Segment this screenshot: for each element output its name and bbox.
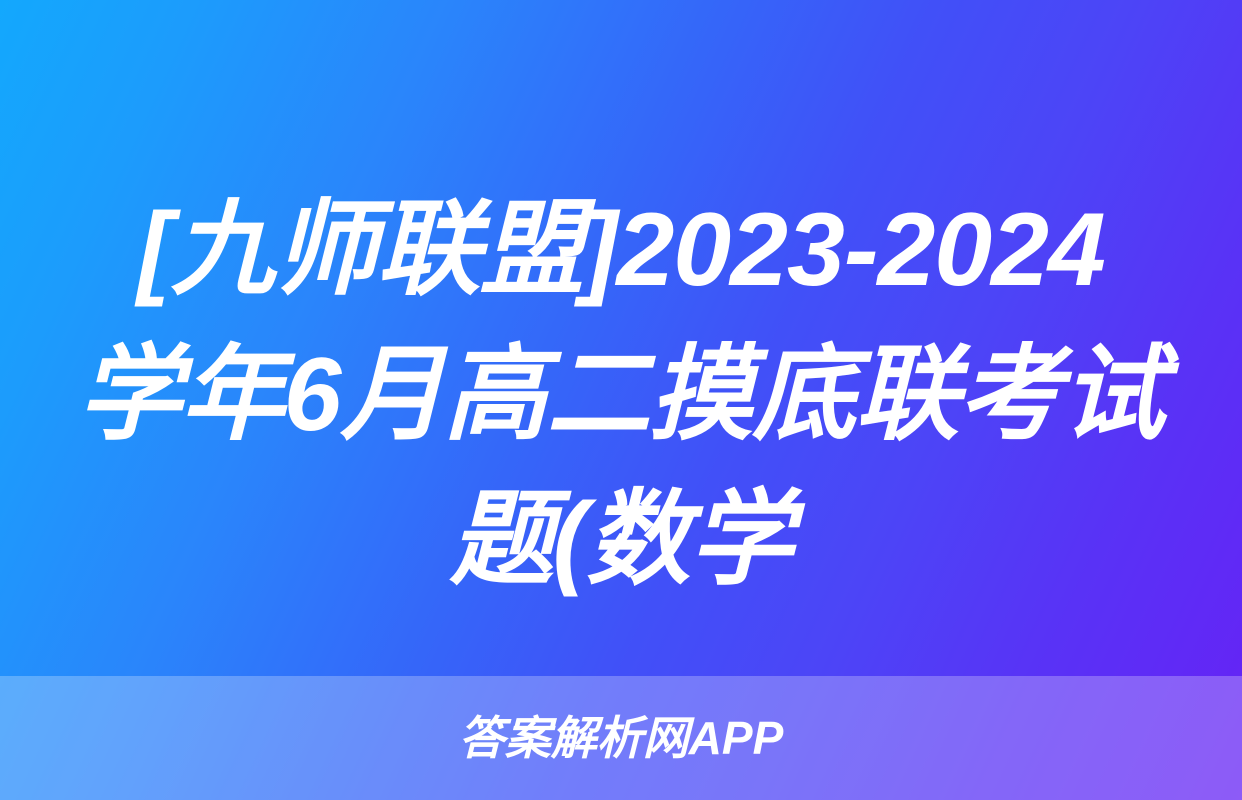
title-line-1: [九师联盟]2023-2024 [0,178,1242,323]
title-line-2: 学年6月高二摸底联考试 [0,323,1242,468]
footer-band: 答案解析网APP [0,676,1242,800]
poster-canvas: [九师联盟]2023-2024 学年6月高二摸底联考试 题(数学 答案解析网AP… [0,0,1242,800]
app-watermark: 答案解析网APP [459,713,784,763]
title-line-3: 题(数学 [0,468,1242,613]
poster-title: [九师联盟]2023-2024 学年6月高二摸底联考试 题(数学 [0,178,1242,613]
